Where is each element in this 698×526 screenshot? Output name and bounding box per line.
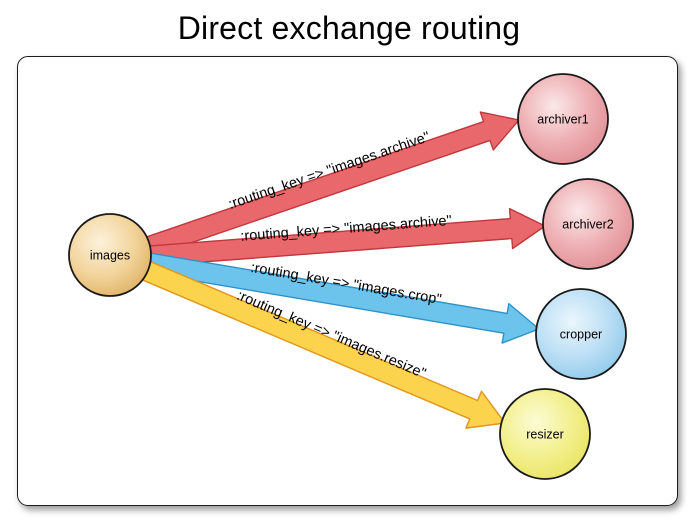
queue-node-cropper[interactable]: cropper xyxy=(536,289,626,379)
bindings-layer xyxy=(143,112,545,428)
exchange-node-images[interactable]: images xyxy=(69,214,151,296)
queue-node-resizer[interactable]: resizer xyxy=(500,389,590,479)
diagram-page: Direct exchange routing xyxy=(0,0,698,526)
queue-node-archiver1[interactable]: archiver1 xyxy=(518,74,608,164)
diagram-canvas: imagesarchiver1archiver2cropperresizer :… xyxy=(0,0,698,526)
queue-node-archiver2[interactable]: archiver2 xyxy=(543,179,633,269)
